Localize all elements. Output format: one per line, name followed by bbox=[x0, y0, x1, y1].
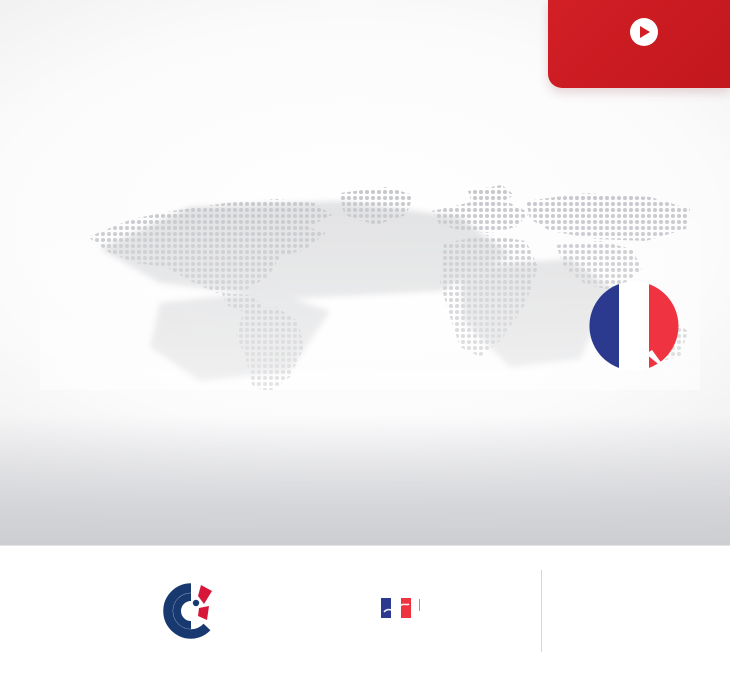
ambassade-de-france-logo[interactable] bbox=[375, 598, 535, 623]
webinaire-badge[interactable] bbox=[548, 0, 730, 88]
ambassade-korean-block bbox=[419, 599, 428, 611]
hero-section bbox=[0, 0, 730, 545]
fkcci-mark-icon bbox=[160, 582, 220, 640]
francophonie-logo[interactable] bbox=[556, 610, 730, 611]
fkcci-logo[interactable] bbox=[160, 582, 375, 640]
webinar-poster bbox=[0, 0, 730, 675]
badge-line2-row bbox=[564, 18, 714, 46]
french-flag-icon bbox=[381, 598, 411, 618]
play-icon[interactable] bbox=[630, 18, 658, 46]
footer-divider bbox=[541, 570, 542, 652]
ambassade-left bbox=[381, 598, 411, 623]
footer-organisers bbox=[0, 545, 730, 675]
title-block bbox=[0, 342, 730, 364]
